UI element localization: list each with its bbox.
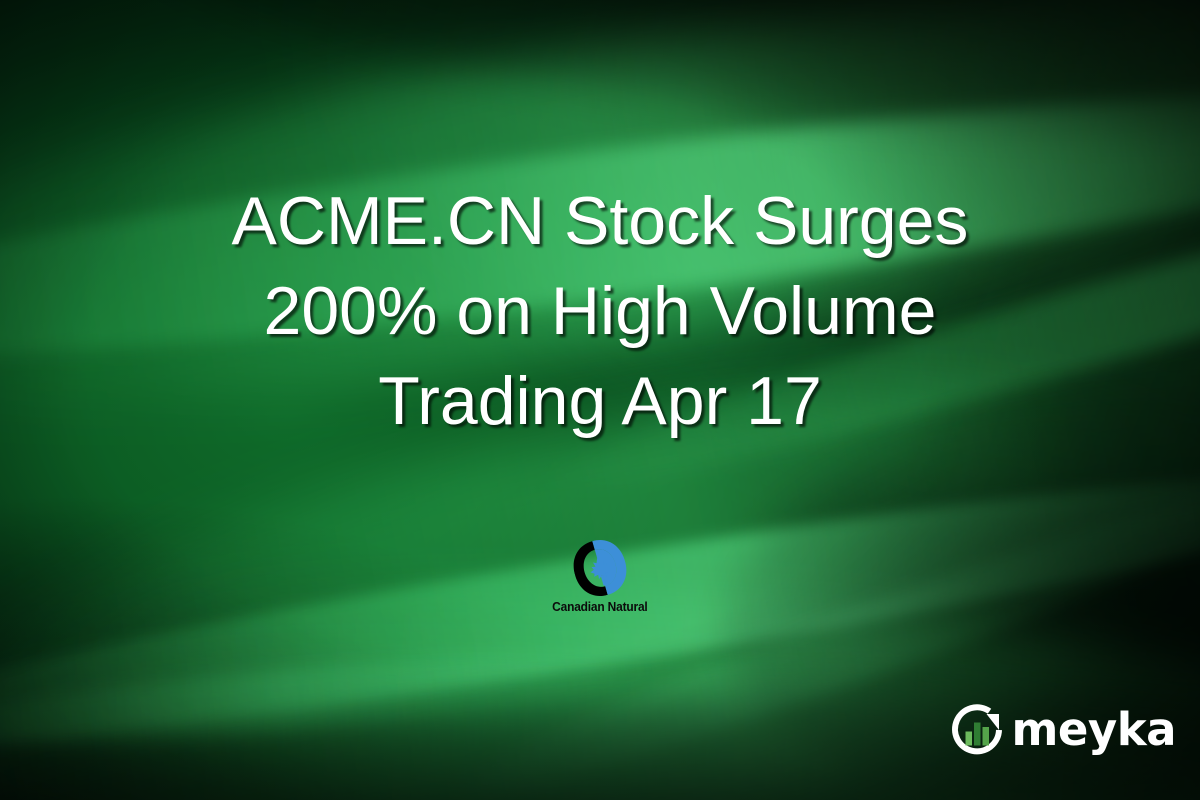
company-logo: Canadian Natural bbox=[540, 538, 660, 614]
meyka-brand-name: meyka bbox=[1011, 707, 1176, 752]
meyka-bar-3 bbox=[983, 727, 990, 746]
company-logo-name: Canadian Natural bbox=[552, 599, 647, 614]
meyka-ring-bar-chart-icon bbox=[949, 702, 1005, 758]
card-content: ACME.CN Stock Surges 200% on High Volume… bbox=[0, 0, 1200, 800]
social-share-card: ACME.CN Stock Surges 200% on High Volume… bbox=[0, 0, 1200, 800]
meyka-bar-2 bbox=[974, 723, 981, 746]
canadian-natural-ring-maple-leaf-icon bbox=[564, 538, 636, 598]
meyka-bar-1 bbox=[966, 732, 973, 746]
headline-title: ACME.CN Stock Surges 200% on High Volume… bbox=[70, 176, 1130, 446]
meyka-brand-lockup[interactable]: meyka bbox=[949, 702, 1176, 758]
